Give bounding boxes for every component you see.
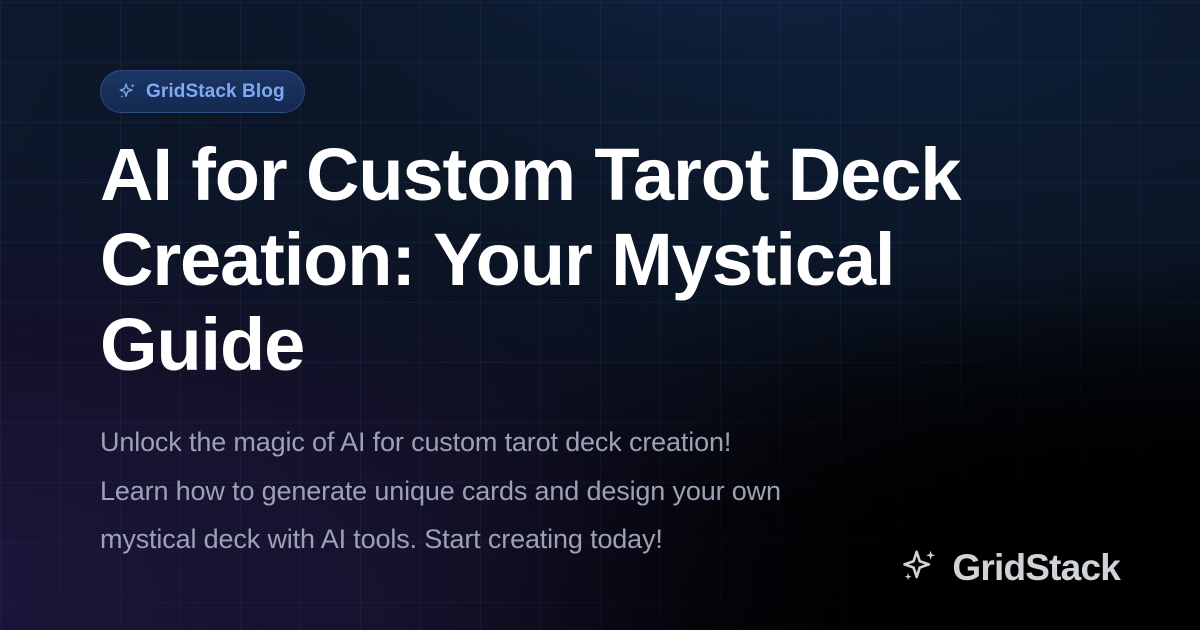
- sparkles-icon: [901, 548, 939, 586]
- blog-badge-label: GridStack Blog: [146, 82, 285, 101]
- page-title: AI for Custom Tarot Deck Creation: Your …: [100, 132, 1000, 387]
- hero-content: GridStack Blog AI for Custom Tarot Deck …: [100, 0, 1100, 630]
- og-image-canvas: GridStack Blog AI for Custom Tarot Deck …: [0, 0, 1200, 630]
- brand-logo[interactable]: GridStack: [901, 548, 1120, 586]
- page-subtitle: Unlock the magic of AI for custom tarot …: [100, 418, 990, 564]
- brand-logo-text: GridStack: [952, 549, 1120, 586]
- sparkles-icon: [118, 82, 137, 101]
- blog-badge[interactable]: GridStack Blog: [100, 70, 305, 113]
